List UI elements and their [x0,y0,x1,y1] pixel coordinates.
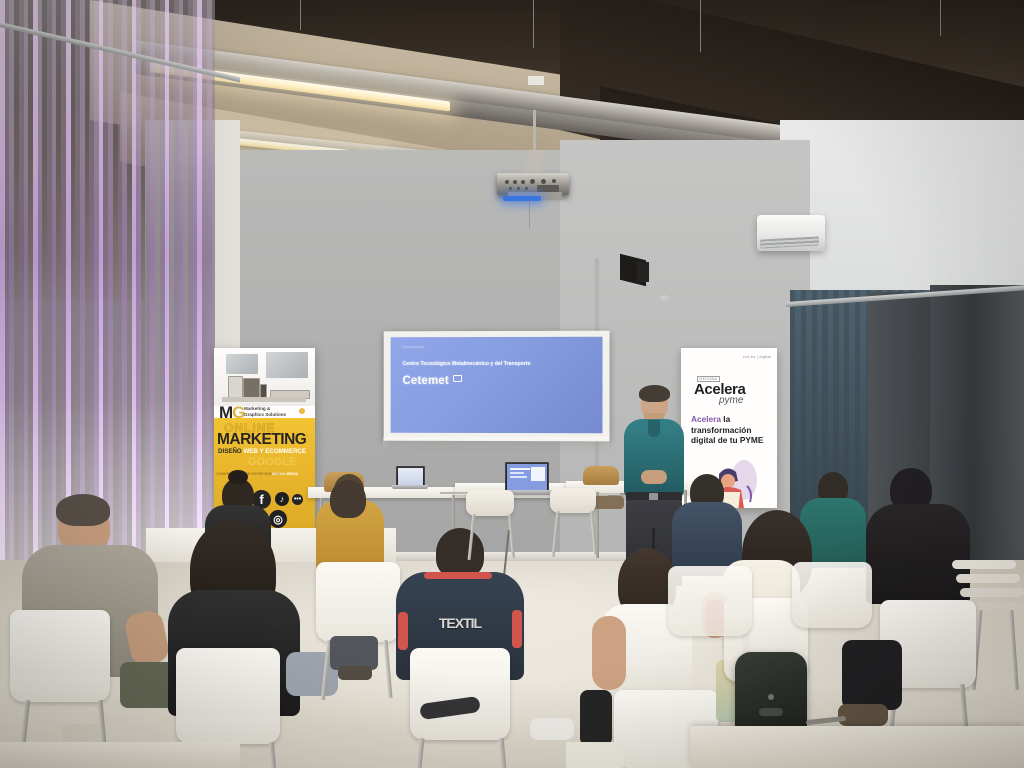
projector-cable [529,200,530,228]
presenter-hands [641,470,667,484]
slide-title-text: Cetemet [402,375,448,387]
presenter-collar [648,420,660,437]
presenter-hair [639,385,670,402]
attendee-mustard-head-2 [330,480,366,518]
banner-mg-google-text: GOOGLE [248,456,296,468]
slide-subtitle: Centro Tecnológico Metalmecánico y del T… [402,361,590,368]
foreground-table-right [690,726,1024,768]
screen-light-spill [383,437,609,449]
vertical-blinds-left[interactable] [0,0,215,565]
attendee-textil-hair [436,528,484,578]
slide-title: Cetemet [402,375,590,387]
banner-mg-top-images [214,348,315,406]
chair-11[interactable] [550,488,596,513]
hanger-rod-2 [700,0,701,52]
hanger-rod-3 [940,0,941,36]
wood-chair-2[interactable] [583,466,619,485]
banner-mg-subline: DISEÑO WEB Y ECOMMERCE [218,448,306,455]
attendee-mustard-legs [330,636,378,670]
chair-1[interactable] [10,610,110,702]
attendee-textil-sleeve-l [398,612,408,650]
paper-foreground [566,742,624,768]
mockup-laptop-icon [226,354,258,374]
chair-8[interactable] [668,566,752,636]
tiktok-icon: ♪ [275,492,289,506]
laptop-left-base [392,485,428,489]
projector-pole [533,110,536,154]
foreground-table-left [0,742,240,768]
projector-indicator-light [503,196,541,201]
attendee-bun-hair [228,470,248,484]
attendee-glasses-shoe [838,704,888,726]
mockup-bag-icon [243,378,260,398]
attendee-mustard-shoe [338,666,372,680]
laptop-left[interactable] [396,466,425,487]
attendee-tank-legwear [580,690,612,746]
stacked-chair-3 [960,588,1024,597]
wall-speaker-bracket [637,262,649,282]
banner-ap-headline: Acelera la transformación digital de tu … [691,414,773,446]
stacked-chair-1 [952,560,1016,569]
projection-screen: Presentación Centro Tecnológico Metalmec… [384,331,610,442]
attendee-tank-shoe [530,718,574,740]
banner-ap-subtitle: pyme [719,395,743,406]
laptop-right[interactable] [505,462,549,492]
attendee-textil-sleeve-r [512,610,522,648]
blinds-light-glow [0,0,215,565]
attendee-grey-hair [56,494,110,526]
banner-ap-brand-top: red.es | digital [743,354,771,359]
air-conditioner [757,215,825,251]
ac-vent-icon [760,236,819,248]
hanger-rod-4 [300,0,301,30]
smoke-detector-icon [660,295,669,301]
mockup-box-icon [228,376,243,398]
conference-room-photo: Presentación Centro Tecnológico Metalmec… [0,0,1024,768]
chair-9[interactable] [792,562,872,628]
threedots-icon: ••• [292,494,303,505]
slide-logo-mark-icon [453,375,462,382]
mockup-bottle-icon [260,384,267,398]
presentation-slide: Presentación Centro Tecnológico Metalmec… [391,337,603,434]
chair-2[interactable] [176,648,280,744]
banner-mg-small-right: SOCIAL MEDIA [272,472,298,476]
attendee-glasses-legs [842,640,902,710]
chair-3[interactable] [316,562,400,642]
attendee-glasses-body [866,504,970,604]
hanger-rod-1 [533,0,534,48]
attendee-tank-arm [592,616,626,690]
banner-mg-marketing-text: MARKETING [217,431,306,449]
stacked-chair-2 [956,574,1020,583]
instagram-icon: ◎ [269,510,287,528]
attendee-textil-collar [424,572,492,579]
slide-eyebrow: Presentación [402,345,590,349]
chair-10[interactable] [466,490,514,516]
chair-4[interactable] [410,648,510,740]
banner-ap-headline-accent: Acelera [691,414,721,424]
laptop-right-display [507,464,547,490]
mockup-monitor-icon [266,352,308,378]
banner-mg-tagline: Marketing & Graphics Solutions [244,406,286,417]
banner-mg-dot-icon [299,408,305,414]
ceiling-fixture-box [528,76,544,85]
attendee-textil-graphic: TEXTIL [424,612,496,634]
